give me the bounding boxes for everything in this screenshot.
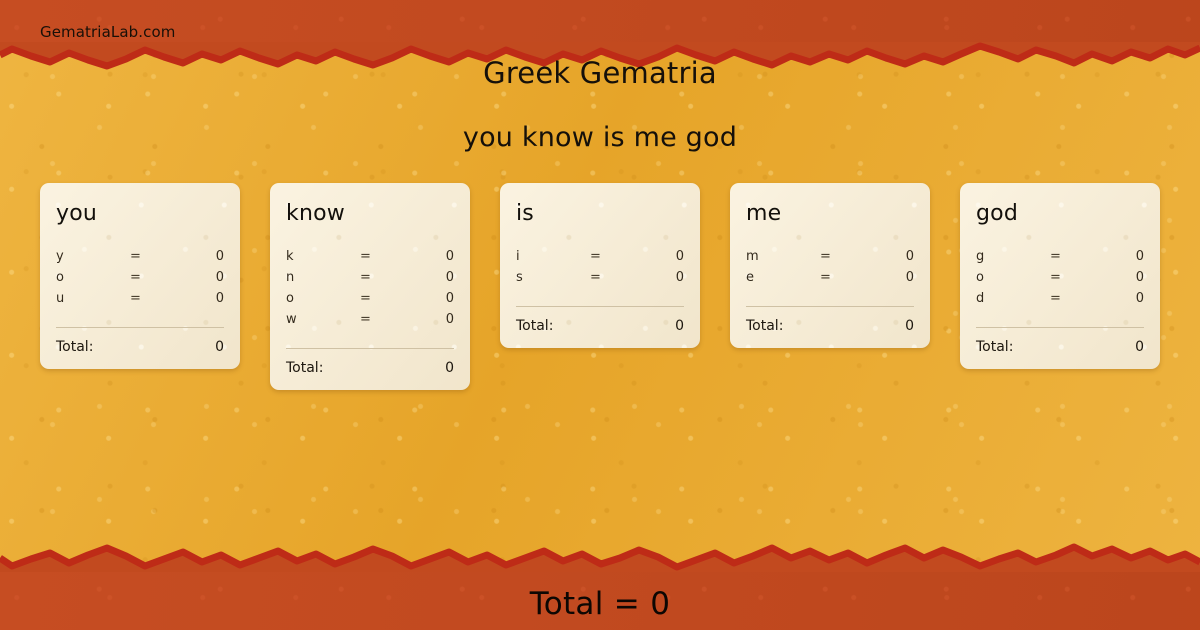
letter-row: i = 0 — [516, 246, 684, 267]
letter-row: w = 0 — [286, 309, 454, 330]
letter: o — [286, 288, 360, 309]
total-label: Total: — [286, 360, 323, 376]
letter-row: n = 0 — [286, 267, 454, 288]
equals-sign: = — [820, 267, 864, 288]
letter: i — [516, 246, 590, 267]
letter-row: o = 0 — [976, 267, 1144, 288]
card-word: you — [56, 203, 224, 225]
card-spacer — [286, 330, 454, 348]
card-total-row: Total: 0 — [56, 339, 224, 355]
equals-sign: = — [590, 267, 634, 288]
card-total-row: Total: 0 — [516, 318, 684, 334]
word-card[interactable]: god g = 0 o = 0 d = 0 Total: 0 — [960, 183, 1160, 369]
letter-row: o = 0 — [286, 288, 454, 309]
letter-value: 0 — [174, 246, 224, 267]
equals-sign: = — [360, 288, 404, 309]
card-word: know — [286, 203, 454, 225]
equals-sign: = — [1050, 246, 1094, 267]
letter-rows: g = 0 o = 0 d = 0 — [976, 246, 1144, 309]
letter-row: m = 0 — [746, 246, 914, 267]
card-total-row: Total: 0 — [976, 339, 1144, 355]
word-card[interactable]: is i = 0 s = 0 Total: 0 — [500, 183, 700, 348]
letter: u — [56, 288, 130, 309]
total-label: Total: — [516, 318, 553, 334]
total-value: 0 — [1013, 339, 1144, 355]
card-total-row: Total: 0 — [746, 318, 914, 334]
equals-sign: = — [130, 288, 174, 309]
word-card[interactable]: me m = 0 e = 0 Total: 0 — [730, 183, 930, 348]
letter-rows: m = 0 e = 0 — [746, 246, 914, 288]
letter-value: 0 — [174, 267, 224, 288]
letter-row: s = 0 — [516, 267, 684, 288]
header: Greek Gematria you know is me god — [0, 58, 1200, 153]
letter: o — [976, 267, 1050, 288]
equals-sign: = — [360, 246, 404, 267]
letter-value: 0 — [404, 309, 454, 330]
equals-sign: = — [820, 246, 864, 267]
card-divider — [746, 306, 914, 307]
card-total-row: Total: 0 — [286, 360, 454, 376]
letter-value: 0 — [864, 246, 914, 267]
card-divider — [286, 348, 454, 349]
letter-rows: i = 0 s = 0 — [516, 246, 684, 288]
letter-row: u = 0 — [56, 288, 224, 309]
letter-value: 0 — [174, 288, 224, 309]
word-card[interactable]: know k = 0 n = 0 o = 0 w = 0 — [270, 183, 470, 390]
letter-row: k = 0 — [286, 246, 454, 267]
letter-value: 0 — [634, 246, 684, 267]
letter-row: d = 0 — [976, 288, 1144, 309]
equals-sign: = — [1050, 267, 1094, 288]
letter: g — [976, 246, 1050, 267]
total-value: 0 — [553, 318, 684, 334]
card-word: is — [516, 203, 684, 225]
card-spacer — [516, 288, 684, 306]
card-spacer — [746, 288, 914, 306]
total-value: 0 — [93, 339, 224, 355]
letter: s — [516, 267, 590, 288]
card-spacer — [976, 309, 1144, 327]
letter-value: 0 — [404, 288, 454, 309]
word-card[interactable]: you y = 0 o = 0 u = 0 Total: 0 — [40, 183, 240, 369]
letter: m — [746, 246, 820, 267]
card-spacer — [56, 309, 224, 327]
letter-rows: k = 0 n = 0 o = 0 w = 0 — [286, 246, 454, 330]
grand-total: Total = 0 — [0, 586, 1200, 622]
letter-row: y = 0 — [56, 246, 224, 267]
letter-row: o = 0 — [56, 267, 224, 288]
total-value: 0 — [783, 318, 914, 334]
letter-value: 0 — [1094, 246, 1144, 267]
top-banner — [0, 0, 1200, 44]
equals-sign: = — [360, 267, 404, 288]
equals-sign: = — [130, 246, 174, 267]
total-value: 0 — [323, 360, 454, 376]
card-divider — [516, 306, 684, 307]
letter: k — [286, 246, 360, 267]
letter-value: 0 — [404, 246, 454, 267]
card-word: god — [976, 203, 1144, 225]
letter-rows: y = 0 o = 0 u = 0 — [56, 246, 224, 309]
letter: d — [976, 288, 1050, 309]
letter-row: e = 0 — [746, 267, 914, 288]
letter: w — [286, 309, 360, 330]
letter-row: g = 0 — [976, 246, 1144, 267]
card-divider — [56, 327, 224, 328]
card-divider — [976, 327, 1144, 328]
letter: y — [56, 246, 130, 267]
letter-value: 0 — [404, 267, 454, 288]
equals-sign: = — [1050, 288, 1094, 309]
page-title: Greek Gematria — [0, 58, 1200, 90]
total-label: Total: — [976, 339, 1013, 355]
word-card-list: you y = 0 o = 0 u = 0 Total: 0 — [40, 183, 1160, 390]
equals-sign: = — [360, 309, 404, 330]
equals-sign: = — [590, 246, 634, 267]
phrase-subtitle: you know is me god — [0, 123, 1200, 153]
letter: n — [286, 267, 360, 288]
letter: o — [56, 267, 130, 288]
card-word: me — [746, 203, 914, 225]
letter-value: 0 — [634, 267, 684, 288]
total-label: Total: — [746, 318, 783, 334]
equals-sign: = — [130, 267, 174, 288]
total-label: Total: — [56, 339, 93, 355]
letter: e — [746, 267, 820, 288]
site-watermark: GematriaLab.com — [40, 23, 175, 41]
letter-value: 0 — [1094, 288, 1144, 309]
letter-value: 0 — [864, 267, 914, 288]
letter-value: 0 — [1094, 267, 1144, 288]
bottom-banner-wave-edge — [0, 538, 1200, 572]
